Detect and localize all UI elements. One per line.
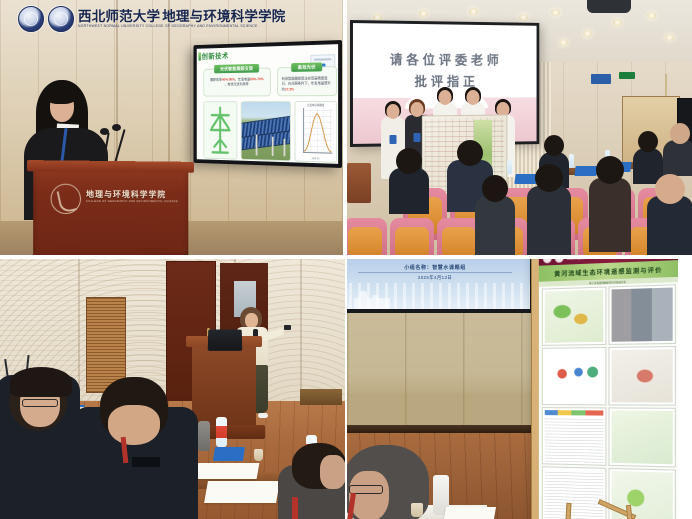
- seated-attendee-4: [527, 186, 571, 255]
- college-banner: 西北师范大学 地理与环境科学学院 NORTHWEST NORMAL UNIVER…: [18, 2, 248, 36]
- projection-line-2: 2025年4月13日: [347, 275, 530, 281]
- seated-attendee-1: [389, 168, 429, 214]
- chart-caption: 日发电功率曲线: [295, 103, 336, 107]
- judge-1-glasses-icon: [22, 399, 58, 407]
- poster-panel: [609, 284, 676, 344]
- seated-attendee-6: [647, 196, 692, 255]
- auditorium-seat: [390, 218, 434, 255]
- side-lectern: [347, 163, 371, 203]
- figure-solar-farm-photo: [241, 101, 291, 161]
- speaker-fringe: [44, 82, 78, 104]
- judge-2-logo: [132, 457, 160, 467]
- slide-innovative-technology: 创新技术 光伏智能跟踪支架 跟踪效率40%-50%，年发电量60%-70% ，有…: [197, 44, 338, 164]
- thermos-flask: [198, 421, 210, 451]
- poster-panel: [609, 346, 676, 405]
- poster-panel-grid: [542, 284, 676, 519]
- microphone-head-1: [100, 128, 109, 135]
- floor-box: [300, 389, 342, 405]
- poster-panel: [542, 287, 606, 346]
- photo-speaker-at-podium: 西北师范大学 地理与环境科学学院 NORTHWEST NORMAL UNIVER…: [0, 0, 343, 255]
- microphone-head-2: [112, 124, 121, 131]
- chart-xlabel: 时间 (h): [295, 156, 336, 161]
- exit-sign-icon: [619, 72, 635, 79]
- slide-card-right: 高效光伏 利用智能跟踪算法实现高精度追日，在光照条件下，年发电量提升约17.2%: [277, 66, 337, 96]
- podium-emblem-icon: [51, 184, 81, 214]
- document-4: [204, 481, 280, 503]
- wall-sign-meeting-room: [591, 74, 611, 84]
- paper-cup-2: [254, 449, 263, 461]
- card-left-body: 跟踪效率40%-50%，年发电量60%-70% ，有效光伏利用率: [208, 77, 267, 88]
- poster-seal-icon-2: [555, 259, 564, 263]
- seated-attendee-rear-3: [663, 140, 692, 176]
- figure-daily-output-curve: 日发电功率曲线 时间 (h): [295, 101, 338, 163]
- presenter-face: [245, 313, 258, 328]
- slide-card-left: 光伏智能跟踪支架 跟踪效率40%-50%，年发电量60%-70% ，有效光伏利用…: [203, 67, 270, 96]
- poster-panel: [542, 467, 606, 519]
- college-seal-icon: [48, 6, 74, 32]
- poster-title: 黄河流域生态环境遥感监测与评价: [554, 264, 662, 277]
- seated-attendee-5: [589, 178, 631, 252]
- banner-college-name: 地理与环境科学学院: [162, 10, 285, 24]
- judge-2-face: [108, 405, 160, 445]
- seat-row-front: [347, 218, 692, 255]
- poster-frame: 西北师范大学 地理与环境科学学院 黄河流域生态环境遥感监测与评价 基于多源遥感数…: [531, 259, 678, 519]
- water-bottle-1: [216, 417, 227, 447]
- document-3: [195, 463, 260, 479]
- lectern-laptop: [208, 329, 243, 350]
- slide-title: 创新技术: [202, 51, 229, 62]
- banner-university-name: 西北师范大学: [78, 10, 160, 24]
- podium-label: 地理与环境科学学院: [86, 189, 166, 200]
- name-placard-center: [213, 447, 245, 461]
- poster-panel: [542, 347, 606, 405]
- tea-cup: [411, 503, 423, 517]
- podium-sublabel: COLLEGE OF GEOGRAPHY AND ENVIRONMENTAL S…: [86, 200, 178, 203]
- photo-poster-board-and-projection: 小组名称：智慧水课题组 2025年4月13日 西北师范大学 地理与环境科学学院 …: [347, 259, 678, 519]
- card-left-header: 光伏智能跟踪支架: [214, 64, 259, 73]
- banner-subtitle-en: NORTHWEST NORMAL UNIVERSITY COLLEGE OF G…: [78, 24, 286, 28]
- podium: 地理与环境科学学院 COLLEGE OF GEOGRAPHY AND ENVIR…: [33, 166, 188, 255]
- poster-panel: [542, 407, 606, 465]
- seated-attendee-3: [475, 196, 515, 255]
- card-right-header: 高效光伏: [291, 62, 322, 71]
- poster-board-easel: 西北师范大学 地理与环境科学学院 黄河流域生态环境遥感监测与评价 基于多源遥感数…: [531, 259, 678, 519]
- projection-line-1: 小组名称：智慧水课题组: [347, 264, 530, 271]
- judge-1-hair: [10, 367, 72, 397]
- judge-3-face: [320, 455, 345, 489]
- photo-group-presentation-auditorium: 请各位评委老师 批评指正 学院：地理与环境科学学院 专业：资源与环境遥感 指导教…: [347, 0, 692, 255]
- poster: 西北师范大学 地理与环境科学学院 黄河流域生态环境遥感监测与评价 基于多源遥感数…: [539, 259, 678, 519]
- photo-presenter-and-judges: [0, 259, 345, 519]
- projection-screen: 小组名称：智慧水课题组 2025年4月13日: [347, 259, 533, 313]
- ceiling-projector-icon: [587, 0, 631, 13]
- presenter-clicker-icon: [284, 325, 291, 330]
- slide-line-1: 请各位评委老师: [353, 49, 537, 69]
- poster-panel: [609, 408, 676, 468]
- card-right-body: 利用智能跟踪算法实现高精度追日，在光照条件下，年发电量提升约17.2%: [282, 76, 333, 92]
- poster-seal-icon-1: [543, 259, 552, 264]
- presenter-shoe-right: [258, 413, 268, 418]
- university-seal-icon: [18, 6, 44, 32]
- photo-collage: 西北师范大学 地理与环境科学学院 NORTHWEST NORMAL UNIVER…: [0, 0, 692, 519]
- poster-header-text: 西北师范大学 地理与环境科学学院: [567, 259, 620, 261]
- auditorium-seat: [347, 218, 387, 255]
- name-placard-2: [574, 166, 597, 176]
- foreground-document: [444, 507, 496, 519]
- judge-3-lanyard: [292, 497, 298, 519]
- presentation-display: 创新技术 光伏智能跟踪支架 跟踪效率40%-50%，年发电量60%-70% ，有…: [193, 40, 342, 168]
- figure-tracker-schematic: [203, 101, 237, 159]
